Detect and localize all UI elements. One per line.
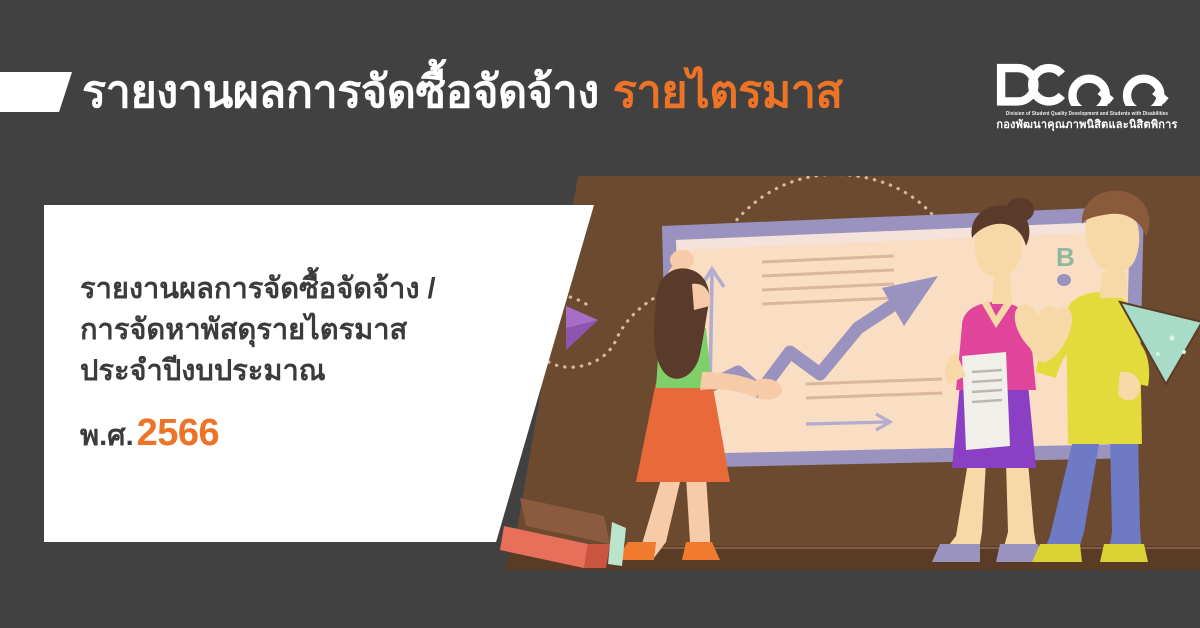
illustration-panel: A B	[490, 176, 1200, 570]
logo-subtitle-th: กองพัฒนาคุณภาพนิสิตและนิสิตพิการ	[992, 118, 1182, 132]
info-card-line-2: การจัดหาพัสดุรายไตรมาส	[80, 310, 510, 351]
dcqq-logo-mark	[992, 62, 1189, 106]
board-label-b-dot	[1057, 274, 1071, 286]
info-card-line-1: รายงานผลการจัดซื้อจัดจ้าง /	[80, 269, 510, 310]
info-card-line-3: ประจำปีงบประมาณ	[80, 351, 510, 392]
banner: รายงานผลการจัดซื้อจัดจ้างรายไตรมาส Divis…	[0, 0, 1200, 628]
year-value: 2566	[137, 412, 220, 454]
parallelogram-tab-icon	[0, 72, 72, 112]
info-card-year: พ.ศ.2566	[80, 412, 510, 458]
page-title-main: รายงานผลการจัดซื้อจัดจ้าง	[82, 66, 599, 117]
page-title: รายงานผลการจัดซื้อจัดจ้างรายไตรมาส	[82, 62, 843, 122]
page-title-accent: รายไตรมาส	[613, 66, 843, 117]
dcqq-logo: Division of Student Quality Development …	[992, 62, 1182, 132]
logo-subtitle-en: Division of Student Quality Development …	[992, 110, 1182, 118]
board-label-b: B	[1056, 242, 1075, 272]
header-bar: รายงานผลการจัดซื้อจัดจ้างรายไตรมาส Divis…	[0, 0, 1200, 176]
info-card-text: รายงานผลการจัดซื้อจัดจ้าง / การจัดหาพัสด…	[80, 269, 510, 458]
illustration-artwork: A B	[490, 176, 1200, 570]
year-label: พ.ศ.	[80, 420, 134, 452]
